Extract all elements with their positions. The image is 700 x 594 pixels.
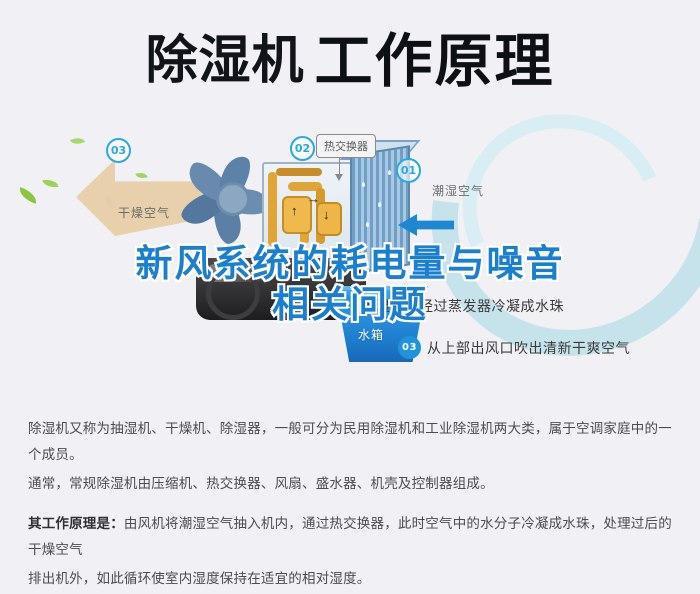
page-title-part1: 除湿机: [145, 35, 304, 87]
dehumidifier-diagram: 干燥空气 03 ↑ ↓ → 02 热交换器: [0, 110, 700, 400]
body-paragraph-3-rest: 由风机将潮湿空气抽入机内，通过热交换器，此时空气中的水分子冷凝成水珠，处理过后的…: [28, 516, 672, 558]
water-tank-label: 水箱: [358, 326, 384, 343]
step-caption-03-text: 从上部出风口吹出清新干爽空气: [427, 338, 630, 358]
refrigerant-coil: [268, 172, 277, 246]
page-title: 除湿机 工作原理: [0, 22, 700, 100]
heat-exchanger-callout: 热交换器: [316, 134, 376, 158]
flow-arrow-right-icon: →: [307, 192, 320, 205]
leaf-icon: [70, 135, 85, 148]
body-paragraph-2: 通常，常规除湿机由压缩机、热交换器、风扇、盛水器、机壳及控制器组成。: [28, 471, 676, 497]
flow-arrow-down-icon: ↓: [323, 208, 330, 221]
badge-step-02: 02: [332, 294, 355, 317]
leaf-icon: [135, 170, 148, 180]
refrigerant-coil: [276, 168, 322, 176]
water-droplet-icon: [362, 182, 365, 187]
body-paragraph-3-lead: 其工作原理是：: [28, 516, 124, 532]
fan-hub: [216, 182, 250, 216]
flow-arrow-up-icon: ↑: [291, 204, 298, 217]
step-caption-03: 03 从上部出风口吹出清新干爽空气: [398, 336, 630, 359]
water-droplet-icon: [356, 242, 359, 247]
step-caption-02: 02 潮湿空气经过蒸发器冷凝成水珠: [332, 294, 564, 317]
badge-step-01-humid-air: 01: [396, 158, 421, 183]
leaf-icon: [42, 178, 58, 189]
body-paragraph-1: 除湿机又称为抽湿机、干燥机、除湿器，一般可分为民用除湿机和工业除湿机两大类，属于…: [28, 416, 676, 469]
badge-step-03-dry-air: 03: [106, 138, 131, 163]
leaf-icon: [17, 187, 39, 204]
water-droplet-icon: [366, 222, 369, 227]
humid-air-label: 潮湿空气: [432, 182, 484, 199]
infographic-page: 除湿机 工作原理 干燥空气 03: [0, 0, 700, 566]
body-paragraph-3: 其工作原理是：由风机将潮湿空气抽入机内，通过热交换器，此时空气中的水分子冷凝成水…: [28, 511, 676, 564]
step-caption-02-text: 潮湿空气经过蒸发器冷凝成水珠: [361, 296, 564, 316]
article-body: 除湿机又称为抽湿机、干燥机、除湿器，一般可分为民用除湿机和工业除湿机两大类，属于…: [28, 416, 676, 594]
paragraph-spacer: [28, 499, 676, 511]
dry-air-label: 干燥空气: [118, 204, 170, 221]
page-title-part2: 工作原理: [315, 32, 555, 90]
badge-step-02-heat-exchanger: 02: [290, 136, 315, 161]
machine-base-ring: [206, 266, 260, 320]
water-droplet-icon: [388, 170, 391, 175]
water-droplet-icon: [378, 202, 381, 207]
body-paragraph-4: 排出机外，如此循环使室内湿度保持在适宜的相对湿度。: [28, 566, 676, 592]
badge-step-03: 03: [398, 336, 421, 359]
